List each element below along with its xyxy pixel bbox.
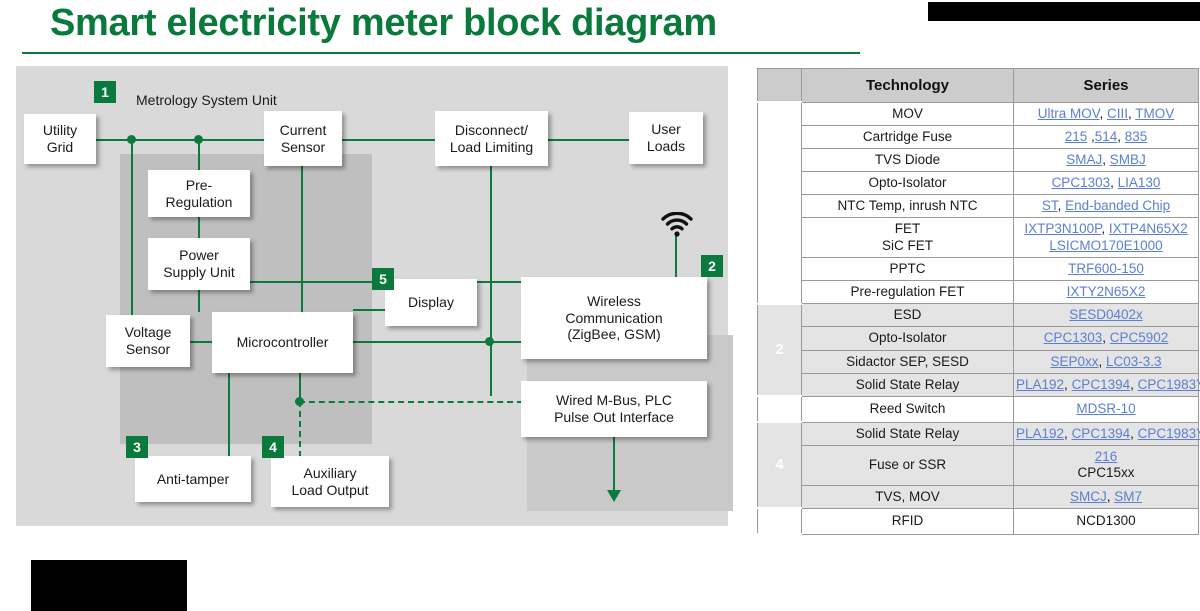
series-text: , [1064,377,1072,392]
utility-grid-label-line1: Utility [43,122,77,138]
series-link[interactable]: SMCJ [1070,489,1107,504]
cell-technology: TVS Diode [802,148,1014,171]
cell-technology: ESD [802,304,1014,327]
series-link[interactable]: CIII [1107,106,1128,121]
series-text: , [1101,221,1109,236]
arrow-wired-output [607,490,621,502]
wire-disconnect-down [490,166,492,396]
series-link[interactable]: Ultra MOV [1038,106,1100,121]
cell-technology: Opto-Isolator [802,172,1014,195]
pre-regulation-label-line2: Regulation [166,194,233,210]
group-number-2: 2 [758,304,802,397]
redacted-bar-top [928,2,1200,21]
components-table: Technology Series 1MOVUltra MOV, CIII, T… [757,68,1199,535]
wire-aux-dashed-vertical [299,401,301,457]
wire-bus-to-voltage-sensor [131,139,133,321]
cell-technology: Solid State Relay [802,373,1014,396]
cell-series: CPC1303, CPC5902 [1014,327,1199,350]
series-text: CPC15xx [1077,465,1134,480]
page-title: Smart electricity meter block diagram [50,2,717,45]
series-text: , [1102,152,1110,167]
series-link[interactable]: LIA130 [1118,175,1161,190]
series-link[interactable]: 514 [1095,129,1118,144]
current-sensor-label-line2: Sensor [281,139,325,155]
series-text: , [1130,426,1138,441]
voltage-sensor-label-line1: Voltage [125,324,172,340]
group-number-3: 3 [758,396,802,422]
cell-technology: Cartridge Fuse [802,125,1014,148]
series-link[interactable]: CPC1303 [1052,175,1111,190]
cell-technology: Fuse or SSR [802,446,1014,485]
group-number-5: 5 [758,508,802,534]
badge-5[interactable]: 5 [372,268,394,290]
block-display[interactable]: Display [385,279,477,326]
series-link[interactable]: 835 [1125,129,1148,144]
table-row: TVS, MOVSMCJ, SM7 [758,485,1199,508]
block-anti-tamper[interactable]: Anti-tamper [135,456,251,502]
wire-microcontroller-to-display [353,309,388,311]
cell-series: PLA192, CPC1394, CPC1983YE [1014,373,1199,396]
group-number-1: 1 [758,102,802,304]
table-row: Solid State RelayPLA192, CPC1394, CPC198… [758,373,1199,396]
wired-label-line2: Pulse Out Interface [554,409,674,425]
series-link[interactable]: ST [1042,198,1058,213]
wifi-icon [661,212,693,238]
cell-series: SESD0402x [1014,304,1199,327]
wireless-label-line3: (ZigBee, GSM) [567,326,660,342]
series-link[interactable]: CPC1394 [1072,426,1131,441]
wireless-label-line2: Communication [565,310,662,326]
badge-4[interactable]: 4 [262,436,284,458]
cell-series: ST, End-banded Chip [1014,195,1199,218]
series-link[interactable]: TMOV [1135,106,1174,121]
title-divider [22,52,860,54]
series-text: , [1098,354,1106,369]
cell-series: PLA192, CPC1394, CPC1983YE [1014,422,1199,445]
table-row: FETSiC FETIXTP3N100P, IXTP4N65X2LSICMO17… [758,218,1199,257]
junction-bus-prereg [194,135,203,144]
series-link[interactable]: 216 [1095,449,1118,464]
cell-technology: Sidactor SEP, SESD [802,350,1014,373]
wire-wired-output-down [613,437,615,492]
cell-series: SMAJ, SMBJ [1014,148,1199,171]
series-link[interactable]: PLA192 [1016,426,1064,441]
table-row: Pre-regulation FETIXTY2N65X2 [758,281,1199,304]
microcontroller-label: Microcontroller [237,334,329,351]
cell-technology: PPTC [802,257,1014,280]
cell-series: SMCJ, SM7 [1014,485,1199,508]
cell-series: IXTY2N65X2 [1014,281,1199,304]
redacted-bar-bottom [31,560,187,611]
series-link[interactable]: 215 [1065,129,1088,144]
table-row: 2ESDSESD0402x [758,304,1199,327]
series-link[interactable]: CPC1303 [1044,330,1103,345]
block-wired-mbus-plc[interactable]: Wired M-Bus, PLC Pulse Out Interface [521,381,707,437]
cell-technology: Solid State Relay [802,422,1014,445]
junction-aux-dashed [295,397,304,406]
auxiliary-label-line2: Load Output [291,482,368,498]
wireless-label-line1: Wireless [587,293,641,309]
cell-technology: Reed Switch [802,396,1014,422]
block-current-sensor[interactable]: Current Sensor [264,111,342,166]
table-row: Cartridge Fuse215 ,514, 835 [758,125,1199,148]
cell-series: MDSR-10 [1014,396,1199,422]
series-text: , [1130,377,1138,392]
series-text: NCD1300 [1076,513,1135,528]
table-row: NTC Temp, inrush NTCST, End-banded Chip [758,195,1199,218]
series-text: , [1087,129,1095,144]
badge-2[interactable]: 2 [701,255,723,277]
table-row: 3Reed SwitchMDSR-10 [758,396,1199,422]
table-header-row: Technology Series [758,69,1199,103]
series-link[interactable]: SMAJ [1066,152,1102,167]
block-disconnect-load-limiting[interactable]: Disconnect/ Load Limiting [435,111,548,166]
table-row: Opto-IsolatorCPC1303, CPC5902 [758,327,1199,350]
series-link[interactable]: MDSR-10 [1076,401,1135,416]
junction-wireless-bus [485,337,494,346]
metrology-group-label: Metrology System Unit [136,92,277,108]
cell-technology: TVS, MOV [802,485,1014,508]
series-link[interactable]: SESD0402x [1069,307,1143,322]
power-supply-label-line2: Supply Unit [163,264,235,280]
disconnect-label-line1: Disconnect/ [455,122,528,138]
table-row: 4Solid State RelayPLA192, CPC1394, CPC19… [758,422,1199,445]
block-power-supply-unit[interactable]: Power Supply Unit [148,238,250,290]
series-text: , [1117,129,1125,144]
table-row: Fuse or SSR216CPC15xx [758,446,1199,485]
block-pre-regulation[interactable]: Pre- Regulation [148,170,250,217]
table-row: Opto-IsolatorCPC1303, LIA130 [758,172,1199,195]
badge-3[interactable]: 3 [126,436,148,458]
series-link[interactable]: IXTY2N65X2 [1067,284,1146,299]
cell-series: CPC1303, LIA130 [1014,172,1199,195]
table-row: PPTCTRF600-150 [758,257,1199,280]
series-link[interactable]: End-banded Chip [1065,198,1170,213]
series-text: , [1064,426,1072,441]
user-loads-label-line2: Loads [647,138,685,154]
block-wireless-communication[interactable]: Wireless Communication (ZigBee, GSM) [521,277,707,359]
disconnect-label-line2: Load Limiting [450,139,533,155]
table-row: TVS DiodeSMAJ, SMBJ [758,148,1199,171]
series-link[interactable]: SEP0xx [1050,354,1098,369]
cell-technology: Pre-regulation FET [802,281,1014,304]
display-label: Display [408,294,454,311]
cell-technology: MOV [802,102,1014,125]
series-link[interactable]: SM7 [1114,489,1142,504]
series-link[interactable]: LSICMO170E1000 [1049,238,1162,253]
power-supply-label-line1: Power [179,247,219,263]
wire-wired-interface-dashed [299,401,523,403]
wire-pre-regulation-to-power-supply [198,216,200,238]
technology-series-table: Technology Series 1MOVUltra MOV, CIII, T… [757,68,1198,603]
voltage-sensor-label-line2: Sensor [126,341,170,357]
cell-series: Ultra MOV, CIII, TMOV [1014,102,1199,125]
block-user-loads[interactable]: User Loads [629,112,703,164]
series-text: , [1102,330,1110,345]
series-link[interactable]: TRF600-150 [1068,261,1144,276]
wire-grid-to-current-sensor [96,139,266,141]
pre-regulation-label-line1: Pre- [186,177,212,193]
header-technology: Technology [802,69,1014,103]
series-link[interactable]: IXTP4N65X2 [1109,221,1188,236]
wire-current-sensor-down [301,166,303,313]
cell-series: NCD1300 [1014,508,1199,534]
table-row: Sidactor SEP, SESDSEP0xx, LC03-3.3 [758,350,1199,373]
anti-tamper-label: Anti-tamper [157,471,229,488]
series-text: , [1110,175,1118,190]
block-auxiliary-load-output[interactable]: Auxiliary Load Output [271,456,389,507]
series-link[interactable]: CPC1983YE [1138,377,1200,392]
series-text: , [1099,106,1107,121]
group-number-4: 4 [758,422,802,508]
series-link[interactable]: CPC5902 [1110,330,1169,345]
cell-series: IXTP3N100P, IXTP4N65X2LSICMO170E1000 [1014,218,1199,257]
wire-microcontroller-to-wireless [353,341,525,343]
table-row: 5RFIDNCD1300 [758,508,1199,534]
header-number [758,69,802,103]
auxiliary-label-line1: Auxiliary [304,465,357,481]
user-loads-label-line1: User [651,121,681,137]
header-series: Series [1014,69,1199,103]
junction-bus-voltage [127,135,136,144]
cell-series: 216CPC15xx [1014,446,1199,485]
cell-series: TRF600-150 [1014,257,1199,280]
series-link[interactable]: PLA192 [1016,377,1064,392]
wire-current-to-disconnect [340,139,436,141]
cell-series: SEP0xx, LC03-3.3 [1014,350,1199,373]
table-row: 1MOVUltra MOV, CIII, TMOV [758,102,1199,125]
block-microcontroller[interactable]: Microcontroller [212,312,353,373]
badge-1[interactable]: 1 [94,81,116,103]
cell-technology: RFID [802,508,1014,534]
wire-power-supply-to-microcontroller [198,290,200,312]
series-text: , [1058,198,1066,213]
utility-grid-label-line2: Grid [47,139,73,155]
wired-label-line1: Wired M-Bus, PLC [556,392,672,408]
series-link[interactable]: LC03-3.3 [1106,354,1162,369]
cell-technology: NTC Temp, inrush NTC [802,195,1014,218]
series-link[interactable]: SMBJ [1110,152,1146,167]
series-link[interactable]: CPC1983YE [1138,426,1200,441]
table-body: 1MOVUltra MOV, CIII, TMOVCartridge Fuse2… [758,102,1199,534]
cell-series: 215 ,514, 835 [1014,125,1199,148]
series-link[interactable]: CPC1394 [1072,377,1131,392]
wire-microcontroller-to-anti-tamper [228,373,230,456]
series-link[interactable]: IXTP3N100P [1024,221,1101,236]
current-sensor-label-line1: Current [280,122,327,138]
block-voltage-sensor[interactable]: Voltage Sensor [106,315,190,367]
cell-technology: FETSiC FET [802,218,1014,257]
block-utility-grid[interactable]: Utility Grid [24,114,96,164]
cell-technology: Opto-Isolator [802,327,1014,350]
wire-disconnect-to-user-loads [548,139,630,141]
